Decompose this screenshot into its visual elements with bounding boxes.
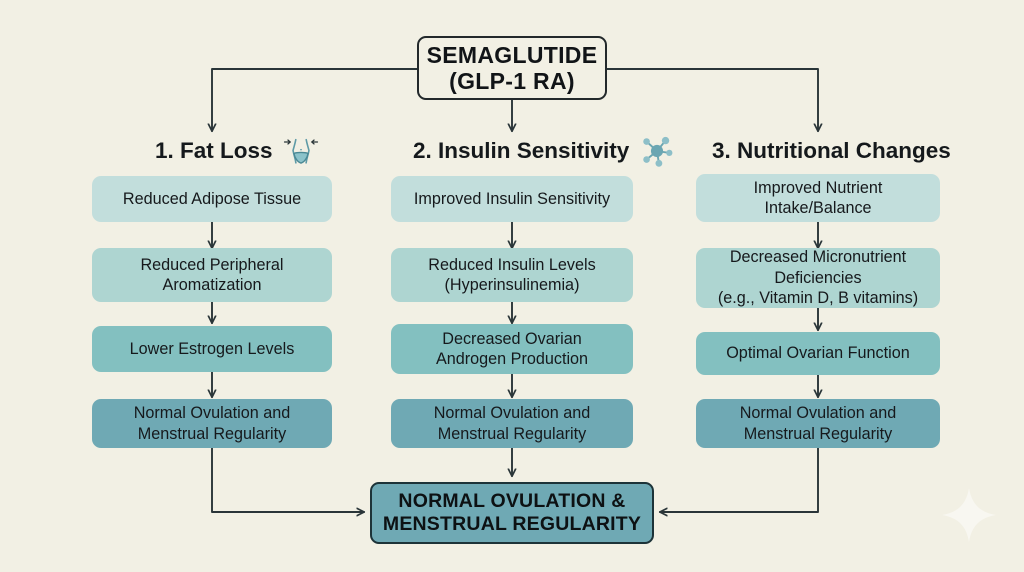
edge-root-to-col3	[607, 69, 818, 131]
node-nutrition-step-4: Normal Ovulation and Menstrual Regularit…	[696, 399, 940, 448]
final-node-outcome: NORMAL OVULATION & MENSTRUAL REGULARITY	[370, 482, 654, 544]
column-title: 1. Fat Loss	[155, 138, 273, 164]
node-label: Reduced Adipose Tissue	[123, 189, 301, 209]
node-insulin-step-4: Normal Ovulation and Menstrual Regularit…	[391, 399, 633, 448]
root-node-semaglutide: SEMAGLUTIDE (GLP-1 RA)	[417, 36, 607, 100]
node-fat-loss-step-2: Reduced Peripheral Aromatization	[92, 248, 332, 302]
node-fat-loss-step-1: Reduced Adipose Tissue	[92, 176, 332, 222]
column-title: 3. Nutritional Changes	[712, 138, 951, 164]
root-title-line1: SEMAGLUTIDE	[427, 42, 598, 68]
node-insulin-step-2: Reduced Insulin Levels (Hyperinsulinemia…	[391, 248, 633, 302]
flowchart-canvas: SEMAGLUTIDE (GLP-1 RA) 1. Fat Loss 2. In…	[0, 0, 1024, 572]
root-title-line2: (GLP-1 RA)	[449, 68, 575, 94]
node-nutrition-step-2: Decreased Micronutrient Deficiencies (e.…	[696, 248, 940, 308]
column-header-nutritional-changes: 3. Nutritional Changes	[712, 134, 951, 168]
node-label: Decreased Micronutrient Deficiencies (e.…	[718, 247, 918, 308]
molecule-icon	[638, 133, 676, 169]
node-label: Normal Ovulation and Menstrual Regularit…	[134, 403, 291, 444]
node-label: Improved Insulin Sensitivity	[414, 189, 610, 209]
node-fat-loss-step-3: Lower Estrogen Levels	[92, 326, 332, 372]
final-node-label: NORMAL OVULATION & MENSTRUAL REGULARITY	[383, 490, 641, 536]
node-label: Normal Ovulation and Menstrual Regularit…	[740, 403, 897, 444]
node-insulin-step-1: Improved Insulin Sensitivity	[391, 176, 633, 222]
edge-c1-to-final	[212, 448, 364, 512]
node-fat-loss-step-4: Normal Ovulation and Menstrual Regularit…	[92, 399, 332, 448]
node-label: Reduced Insulin Levels (Hyperinsulinemia…	[428, 255, 595, 296]
node-label: Lower Estrogen Levels	[130, 339, 295, 359]
edge-c3-to-final	[660, 448, 818, 512]
sparkle-decoration-icon	[938, 484, 1000, 546]
node-nutrition-step-1: Improved Nutrient Intake/Balance	[696, 174, 940, 222]
column-header-fat-loss: 1. Fat Loss	[155, 134, 320, 168]
node-insulin-step-3: Decreased Ovarian Androgen Production	[391, 324, 633, 374]
node-label: Reduced Peripheral Aromatization	[140, 255, 283, 296]
column-title: 2. Insulin Sensitivity	[413, 138, 629, 164]
node-nutrition-step-3: Optimal Ovarian Function	[696, 332, 940, 375]
node-label: Decreased Ovarian Androgen Production	[436, 329, 588, 370]
node-label: Optimal Ovarian Function	[726, 343, 910, 363]
node-label: Improved Nutrient Intake/Balance	[754, 178, 883, 219]
edge-root-to-col1	[212, 69, 417, 131]
node-label: Normal Ovulation and Menstrual Regularit…	[434, 403, 591, 444]
waist-slimming-icon	[282, 133, 320, 169]
column-header-insulin-sensitivity: 2. Insulin Sensitivity	[413, 134, 676, 168]
